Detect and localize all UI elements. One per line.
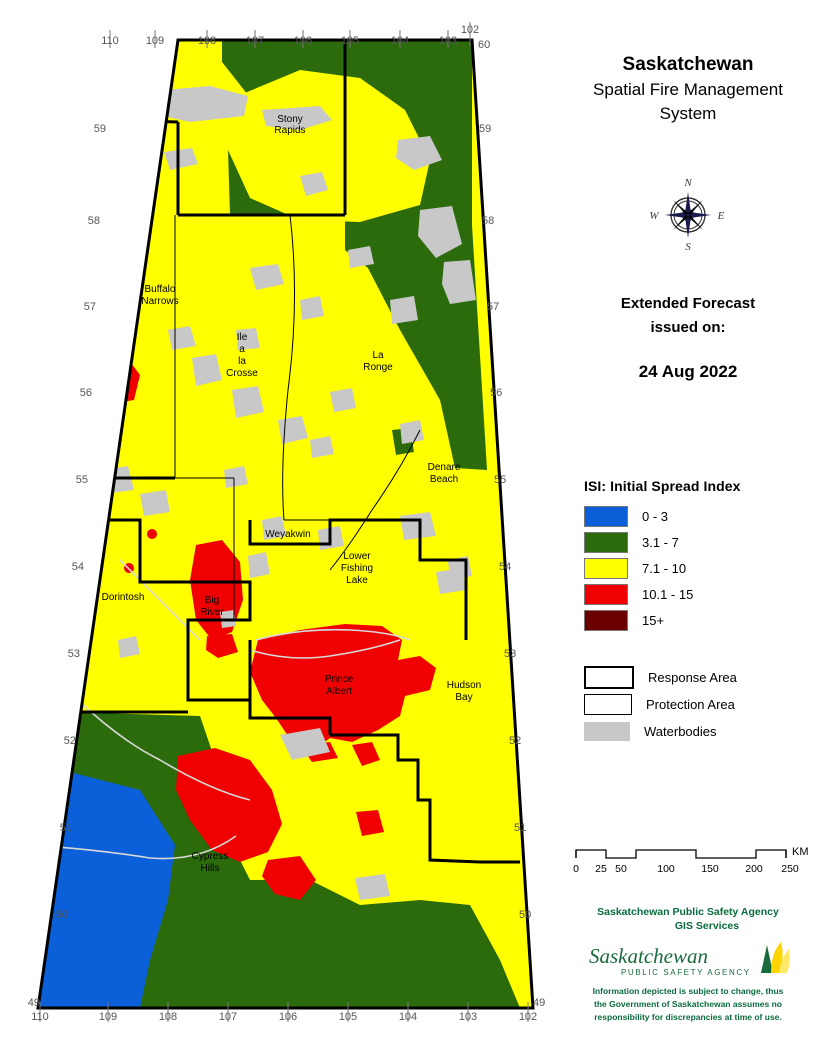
place-label-buffalo-narrows: Buffalo Narrows xyxy=(141,284,178,307)
legend-label-0-3: 0 - 3 xyxy=(642,509,668,524)
svg-text:105: 105 xyxy=(339,1011,357,1023)
svg-text:103: 103 xyxy=(439,35,457,47)
scale-bar: KM 0 25 50 100 150 200 250 xyxy=(568,836,816,888)
response-area-label: Response Area xyxy=(648,670,737,685)
svg-text:54: 54 xyxy=(499,561,511,573)
legend-swatch-7-10 xyxy=(584,558,628,579)
svg-text:50: 50 xyxy=(519,909,531,921)
svg-text:53: 53 xyxy=(68,648,80,660)
svg-text:25: 25 xyxy=(595,863,607,875)
svg-text:Dorintosh: Dorintosh xyxy=(102,592,145,603)
title-block: Saskatchewan Spatial Fire Management Sys… xyxy=(560,52,816,126)
svg-text:La: La xyxy=(372,350,384,361)
legend-swatch-0-3 xyxy=(584,506,628,527)
svg-text:109: 109 xyxy=(99,1011,117,1023)
svg-text:Cypress: Cypress xyxy=(192,851,229,862)
svg-text:103: 103 xyxy=(459,1011,477,1023)
svg-text:108: 108 xyxy=(198,35,216,47)
svg-text:la: la xyxy=(238,356,246,367)
waterbodies-swatch xyxy=(584,722,630,741)
svg-text:Hudson: Hudson xyxy=(447,680,481,691)
svg-text:Beach: Beach xyxy=(430,474,458,485)
svg-text:56: 56 xyxy=(490,387,502,399)
legend-label-10-15: 10.1 - 15 xyxy=(642,587,693,602)
svg-text:250: 250 xyxy=(781,863,799,875)
svg-text:Lower: Lower xyxy=(343,551,371,562)
svg-text:Big: Big xyxy=(205,595,219,606)
compass-south-label: S xyxy=(685,241,691,252)
agency-name-line1: Saskatchewan Public Safety Agency xyxy=(597,906,779,918)
agency-name-line2: GIS Services xyxy=(560,919,816,933)
place-label-denare-beach: Denare Beach xyxy=(428,462,461,485)
svg-text:Bay: Bay xyxy=(455,692,472,703)
svg-text:52: 52 xyxy=(64,735,76,747)
svg-text:Lake: Lake xyxy=(346,575,368,586)
svg-text:60: 60 xyxy=(478,39,490,51)
side-panel: Saskatchewan Spatial Fire Management Sys… xyxy=(560,0,816,1056)
logo-wheat-icon xyxy=(761,942,790,973)
map-panel[interactable]: 110 109 108 107 106 105 104 103 102 110 … xyxy=(0,0,560,1056)
svg-text:54: 54 xyxy=(72,561,84,573)
svg-text:110: 110 xyxy=(31,1011,49,1023)
svg-text:105: 105 xyxy=(341,35,359,47)
place-label-prince-albert: Prince Albert xyxy=(325,674,354,697)
forecast-block: Extended Forecast issued on: 24 Aug 2022 xyxy=(560,292,816,382)
scale-tick-labels: 0 25 50 100 150 200 250 xyxy=(573,863,799,875)
isi-legend: ISI: Initial Spread Index 0 - 3 3.1 - 7 … xyxy=(584,478,816,633)
svg-text:104: 104 xyxy=(391,35,409,47)
svg-text:53: 53 xyxy=(504,648,516,660)
svg-text:58: 58 xyxy=(88,215,100,227)
logo-wordmark: Saskatchewan xyxy=(589,944,708,968)
area-row-protection: Protection Area xyxy=(584,691,816,718)
svg-text:Narrows: Narrows xyxy=(141,296,178,307)
place-label-stony-rapids: Stony Rapids xyxy=(274,114,305,136)
protection-area-label: Protection Area xyxy=(646,697,735,712)
logo-subtitle: PUBLIC SAFETY AGENCY xyxy=(621,968,751,977)
svg-text:100: 100 xyxy=(657,863,675,875)
page-title: Saskatchewan xyxy=(560,52,816,78)
protection-area-swatch xyxy=(584,694,632,715)
place-label-dorintosh: Dorintosh xyxy=(102,592,145,603)
page-subtitle-line1: Spatial Fire Management xyxy=(560,78,816,102)
svg-text:104: 104 xyxy=(399,1011,417,1023)
legend-row-15plus: 15+ xyxy=(584,607,816,633)
compass-rose-icon: N S W E xyxy=(648,172,728,252)
svg-text:55: 55 xyxy=(494,474,506,486)
footer-block: Saskatchewan Public Safety Agency GIS Se… xyxy=(560,905,816,1024)
forecast-label-line1: Extended Forecast xyxy=(560,292,816,316)
svg-text:Weyakwin: Weyakwin xyxy=(265,529,310,540)
disclaimer-line1: Information depicted is subject to chang… xyxy=(568,985,808,998)
svg-text:55: 55 xyxy=(76,474,88,486)
svg-text:109: 109 xyxy=(146,35,164,47)
legend-swatch-15plus xyxy=(584,610,628,631)
page-subtitle-line2: System xyxy=(560,102,816,126)
longitude-labels-bottom: 110 109 108 107 106 105 104 103 102 xyxy=(31,1011,537,1023)
svg-text:102: 102 xyxy=(461,24,479,36)
svg-text:200: 200 xyxy=(745,863,763,875)
svg-text:56: 56 xyxy=(80,387,92,399)
disclaimer-line2: the Government of Saskatchewan assumes n… xyxy=(568,998,808,1011)
svg-text:Rapids: Rapids xyxy=(274,125,305,136)
svg-text:Denare: Denare xyxy=(428,462,461,473)
svg-text:Buffalo: Buffalo xyxy=(145,284,176,295)
map-raster xyxy=(0,0,560,1056)
isi-legend-title: ISI: Initial Spread Index xyxy=(584,478,816,494)
svg-text:52: 52 xyxy=(509,735,521,747)
forecast-label-line2: issued on: xyxy=(560,316,816,340)
svg-text:58: 58 xyxy=(482,215,494,227)
svg-text:57: 57 xyxy=(84,301,96,313)
svg-text:50: 50 xyxy=(56,909,68,921)
svg-text:107: 107 xyxy=(219,1011,237,1023)
svg-text:Ile: Ile xyxy=(237,332,248,343)
svg-text:150: 150 xyxy=(701,863,719,875)
legend-row-7-10: 7.1 - 10 xyxy=(584,555,816,581)
svg-text:Stony: Stony xyxy=(277,114,303,125)
svg-text:108: 108 xyxy=(159,1011,177,1023)
legend-label-15plus: 15+ xyxy=(642,613,664,628)
svg-text:51: 51 xyxy=(514,822,526,834)
svg-text:Prince: Prince xyxy=(325,674,354,685)
legend-swatch-10-15 xyxy=(584,584,628,605)
scale-unit-label: KM xyxy=(792,846,809,858)
disclaimer-text: Information depicted is subject to chang… xyxy=(560,985,816,1024)
legend-row-0-3: 0 - 3 xyxy=(584,503,816,529)
agency-name: Saskatchewan Public Safety Agency GIS Se… xyxy=(560,905,816,933)
saskatchewan-psa-logo: Saskatchewan PUBLIC SAFETY AGENCY xyxy=(585,939,791,981)
svg-text:Crosse: Crosse xyxy=(226,368,258,379)
svg-text:102: 102 xyxy=(519,1011,537,1023)
svg-text:Albert: Albert xyxy=(326,686,352,697)
svg-text:Fishing: Fishing xyxy=(341,563,373,574)
waterbodies-label: Waterbodies xyxy=(644,724,717,739)
response-area-swatch xyxy=(584,666,634,689)
saskatchewan-isi-map[interactable]: 110 109 108 107 106 105 104 103 102 110 … xyxy=(0,0,560,1056)
svg-text:106: 106 xyxy=(279,1011,297,1023)
svg-text:106: 106 xyxy=(294,35,312,47)
legend-label-3-7: 3.1 - 7 xyxy=(642,535,679,550)
area-legend: Response Area Protection Area Waterbodie… xyxy=(584,664,816,745)
place-label-weyakwin: Weyakwin xyxy=(265,529,310,540)
svg-text:49: 49 xyxy=(28,997,40,1009)
legend-row-10-15: 10.1 - 15 xyxy=(584,581,816,607)
svg-text:0: 0 xyxy=(573,863,579,875)
legend-label-7-10: 7.1 - 10 xyxy=(642,561,686,576)
compass-west-label: W xyxy=(649,210,659,222)
compass-east-label: E xyxy=(717,210,725,222)
svg-text:107: 107 xyxy=(246,35,264,47)
svg-text:59: 59 xyxy=(479,123,491,135)
svg-text:Hills: Hills xyxy=(201,863,220,874)
legend-row-3-7: 3.1 - 7 xyxy=(584,529,816,555)
svg-text:50: 50 xyxy=(615,863,627,875)
svg-text:a: a xyxy=(239,344,245,355)
disclaimer-line3: responsibility for discrepancies at time… xyxy=(568,1011,808,1024)
svg-text:57: 57 xyxy=(487,301,499,313)
svg-text:59: 59 xyxy=(94,123,106,135)
svg-text:110: 110 xyxy=(101,35,119,47)
svg-text:49: 49 xyxy=(533,997,545,1009)
area-row-response: Response Area xyxy=(584,664,816,691)
legend-swatch-3-7 xyxy=(584,532,628,553)
area-row-waterbodies: Waterbodies xyxy=(584,718,816,745)
forecast-date: 24 Aug 2022 xyxy=(560,362,816,382)
svg-text:Ronge: Ronge xyxy=(363,362,393,373)
svg-text:51: 51 xyxy=(60,822,72,834)
svg-text:River: River xyxy=(200,607,224,618)
compass-north-label: N xyxy=(683,177,692,189)
